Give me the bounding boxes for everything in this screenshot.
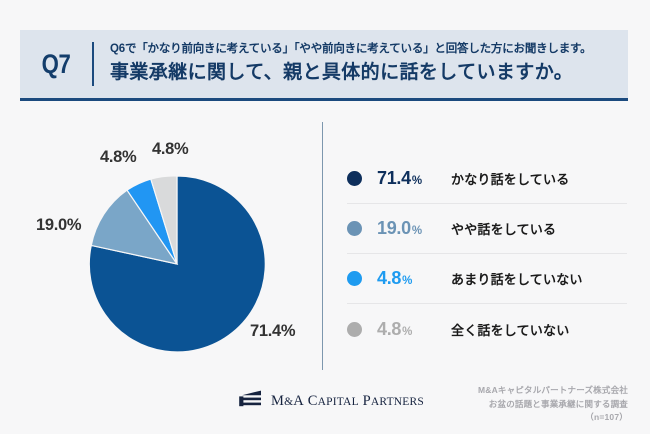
legend-dot-icon bbox=[347, 221, 362, 236]
logo-wordmark: M&A CAPITAL PARTNERS bbox=[271, 393, 424, 410]
question-text-group: Q6で「かなり前向きに考えている」「やや前向きに考えている」と回答した方にお聞き… bbox=[110, 42, 628, 85]
legend-row-mattaku[interactable]: 4.8% 全く話をしていない bbox=[347, 304, 627, 354]
legend-row-yaya[interactable]: 19.0% やや話をしている bbox=[347, 204, 627, 254]
legend-percent-amari: 4.8% bbox=[377, 268, 451, 289]
pie-chart-region: 71.4% 19.0% 4.8% 4.8% bbox=[0, 110, 322, 372]
pie-label-kanari: 71.4% bbox=[250, 322, 295, 341]
legend: 71.4% かなり話をしている 19.0% やや話をしている 4.8% あまり話… bbox=[347, 154, 627, 354]
legend-label-kanari: かなり話をしている bbox=[451, 169, 569, 188]
legend-dot-icon bbox=[347, 171, 362, 186]
logo-mark-icon bbox=[238, 388, 264, 414]
question-header: Q7 Q6で「かなり前向きに考えている」「やや前向きに考えている」と回答した方に… bbox=[20, 30, 628, 101]
chart-content-area: 71.4% 19.0% 4.8% 4.8% 71.4% かなり話をしている 19… bbox=[0, 110, 650, 372]
credit-company: M&Aキャピタルパートナーズ株式会社 bbox=[478, 384, 628, 398]
pie-label-mattaku: 4.8% bbox=[152, 140, 188, 159]
legend-dot-icon bbox=[347, 271, 362, 286]
question-number-badge: Q7 bbox=[26, 49, 85, 80]
legend-label-mattaku: 全く話をしていない bbox=[451, 320, 569, 339]
legend-dot-icon bbox=[347, 322, 362, 337]
source-credit: M&Aキャピタルパートナーズ株式会社 お盆の話題と事業承継に関する調査 （n=1… bbox=[478, 384, 628, 425]
legend-row-amari[interactable]: 4.8% あまり話をしていない bbox=[347, 254, 627, 304]
question-title: 事業承継に関して、親と具体的に話をしていますか。 bbox=[110, 60, 618, 86]
legend-row-kanari[interactable]: 71.4% かなり話をしている bbox=[347, 154, 627, 204]
legend-label-yaya: やや話をしている bbox=[451, 219, 556, 238]
question-subtitle: Q6で「かなり前向きに考えている」「やや前向きに考えている」と回答した方にお聞き… bbox=[110, 42, 618, 58]
legend-percent-mattaku: 4.8% bbox=[377, 319, 451, 340]
company-logo: M&A CAPITAL PARTNERS bbox=[238, 388, 424, 414]
vertical-divider bbox=[322, 122, 323, 370]
credit-survey: お盆の話題と事業承継に関する調査 bbox=[478, 398, 628, 412]
footer: M&A CAPITAL PARTNERS M&Aキャピタルパートナーズ株式会社 … bbox=[0, 382, 650, 434]
pie-chart bbox=[87, 174, 267, 354]
legend-percent-yaya: 19.0% bbox=[377, 218, 451, 239]
credit-sample-size: （n=107） bbox=[478, 411, 628, 425]
legend-label-amari: あまり話をしていない bbox=[451, 269, 583, 288]
legend-percent-kanari: 71.4% bbox=[377, 168, 451, 189]
header-divider bbox=[92, 42, 94, 86]
pie-label-amari: 4.8% bbox=[100, 148, 136, 167]
pie-label-yaya: 19.0% bbox=[36, 216, 81, 235]
